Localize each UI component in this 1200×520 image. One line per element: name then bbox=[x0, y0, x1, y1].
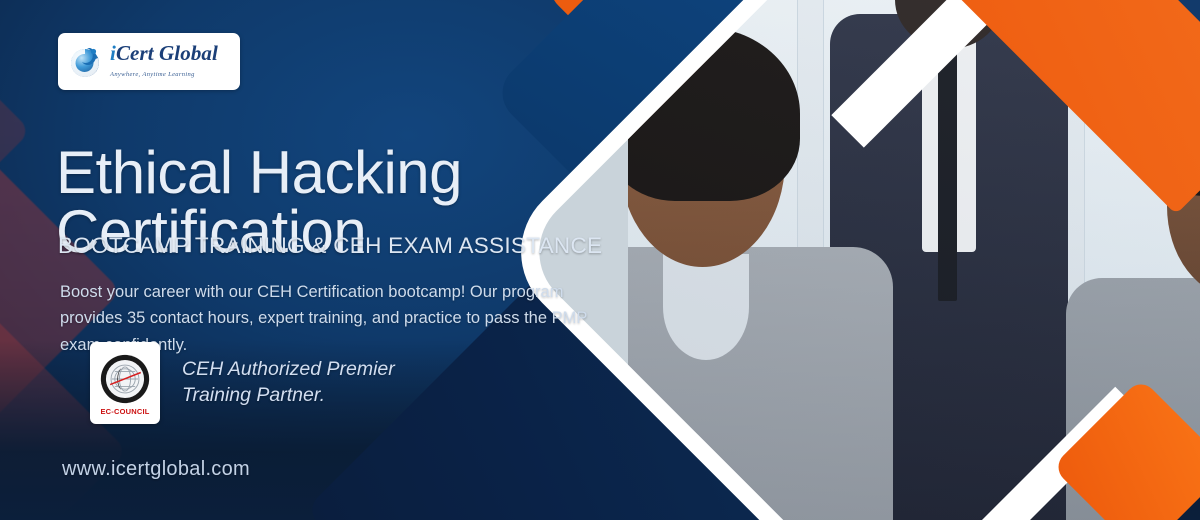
subheadline: BOOTCAMP TRAINING & CEH EXAM ASSISTANCE bbox=[58, 233, 638, 259]
brand-tagline: Anywhere, Anytime Learning bbox=[110, 71, 195, 78]
brand-name: iCert Global bbox=[110, 41, 218, 65]
accreditation-row: EC-COUNCIL CEH Authorized Premier Traini… bbox=[90, 342, 395, 424]
headline-line-1: Ethical Hacking bbox=[56, 139, 462, 206]
ec-council-seal-icon bbox=[99, 353, 151, 405]
promo-banner: iCert Global Anywhere, Anytime Learning … bbox=[0, 0, 1200, 520]
brand-logo[interactable]: iCert Global Anywhere, Anytime Learning bbox=[58, 33, 240, 90]
globe-swirl-icon bbox=[66, 42, 106, 82]
partner-statement: CEH Authorized Premier Training Partner. bbox=[182, 357, 395, 408]
decorative-orange-tile-bottom-right bbox=[1052, 378, 1200, 520]
banner-content: iCert Global Anywhere, Anytime Learning … bbox=[0, 0, 640, 520]
website-url[interactable]: www.icertglobal.com bbox=[62, 458, 250, 481]
ec-council-label: EC-COUNCIL bbox=[100, 407, 149, 416]
partner-line-1: CEH Authorized Premier bbox=[182, 358, 395, 380]
ec-council-badge: EC-COUNCIL bbox=[90, 342, 160, 424]
partner-line-2: Training Partner. bbox=[182, 383, 395, 409]
